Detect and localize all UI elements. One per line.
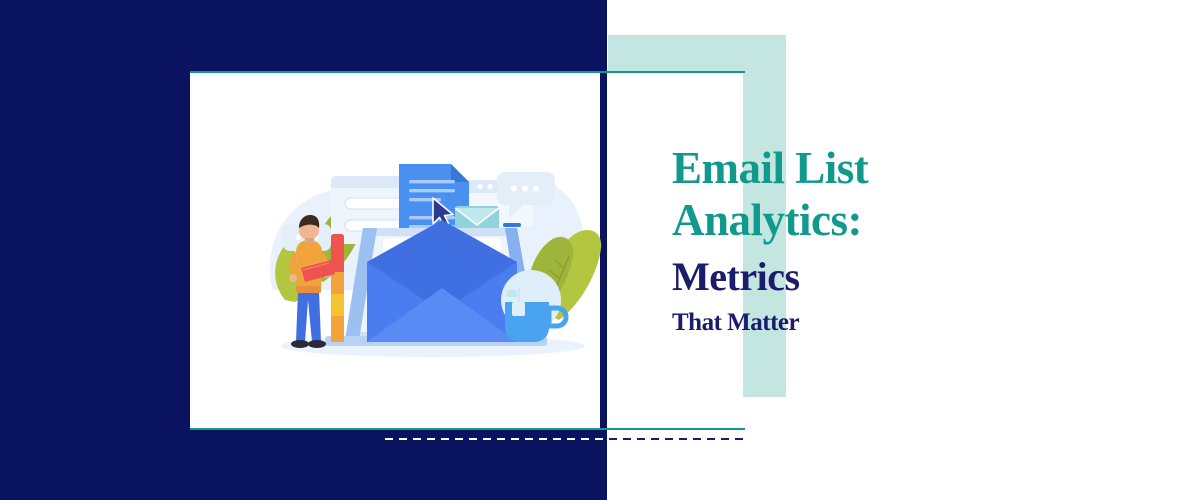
illustration: CREDIT REPORT <box>255 150 610 365</box>
headline-line-4: That Matter <box>672 306 1092 340</box>
dashed-rule-over-navy <box>385 438 607 440</box>
headline-line-3: Metrics <box>672 248 1092 306</box>
teal-rule-bottom <box>190 428 745 430</box>
teal-rule-top <box>190 71 745 73</box>
banner-canvas: CREDIT REPORT <box>0 0 1200 500</box>
headline-block: Email List Analytics: Metrics That Matte… <box>672 142 1092 340</box>
headline-line-1: Email List <box>672 142 1092 194</box>
headline-line-2: Analytics: <box>672 194 1092 246</box>
